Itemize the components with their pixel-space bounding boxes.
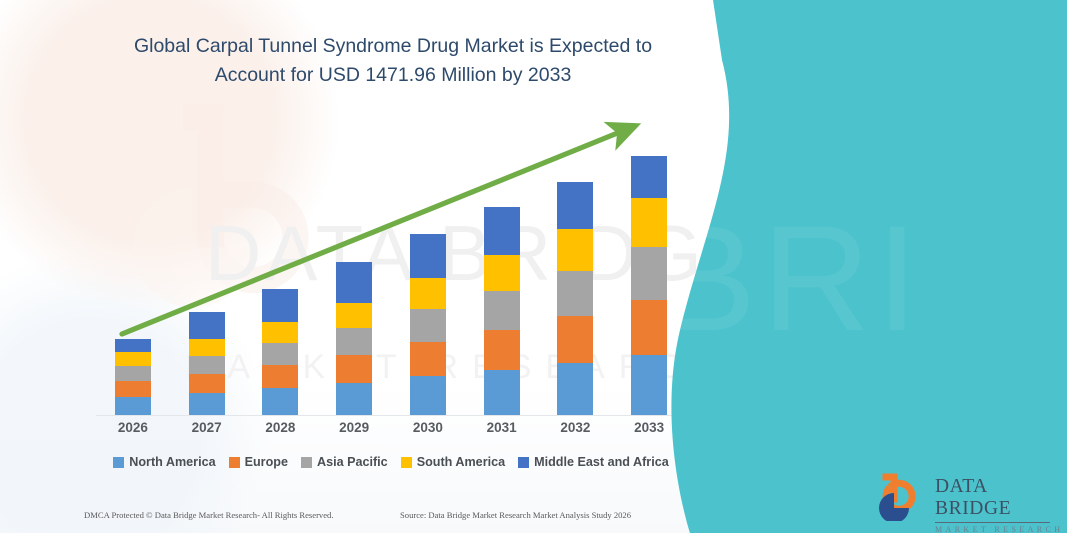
bar-segment [262,365,298,388]
bar-segment [336,328,372,355]
bar-segment [557,182,593,229]
bar-segment [115,381,151,397]
bar-segment [484,291,520,330]
bar-column [174,120,240,415]
bar-segment [262,289,298,322]
stacked-bar [115,339,151,415]
legend-swatch [401,457,412,468]
bar-column [469,120,535,415]
infographic-slide: DATA BRIDGE MARKET RESEARCH Global Carpa… [0,0,1067,533]
bar-column [100,120,166,415]
logo-wordmark-sub: MARKET RESEARCH [935,525,1067,533]
bar-segment [557,316,593,363]
legend-item[interactable]: North America [113,455,215,469]
x-axis-label: 2026 [100,420,166,435]
teal-panel: BRI 2026 2033 Global Carpal Tunnel Syndr… [650,0,1067,533]
x-axis-label: 2031 [469,420,535,435]
stacked-bar [262,289,298,415]
bar-segment [115,397,151,415]
bar-segment [410,342,446,376]
bar-segment [484,207,520,255]
bar-segment [484,330,520,370]
logo-divider [935,522,1050,523]
bar-segment [336,383,372,415]
x-axis-label: 2029 [321,420,387,435]
chart-legend: North AmericaEuropeAsia PacificSouth Ame… [96,455,686,469]
teal-panel-shape: BRI [650,0,1067,533]
x-axis-labels: 20262027202820292030203120322033 [96,420,686,435]
legend-label: South America [417,455,505,469]
x-axis-label: 2028 [247,420,313,435]
page-title: Global Carpal Tunnel Syndrome Drug Marke… [105,32,681,90]
bar-segment [262,388,298,415]
bar-segment [557,271,593,316]
stacked-bar-chart [96,120,686,416]
stacked-bar [484,207,520,415]
bar-segment [336,355,372,383]
x-axis-label: 2032 [542,420,608,435]
stacked-bar [336,262,372,415]
stacked-bar [410,234,446,415]
x-axis-line [96,415,686,416]
bar-segment [115,352,151,366]
bar-segment [410,309,446,342]
legend-item[interactable]: Middle East and Africa [518,455,669,469]
bar-column [542,120,608,415]
bar-segment [189,356,225,374]
logo-wordmark-main: DATA BRIDGE [935,476,1067,520]
legend-swatch [301,457,312,468]
chart-bars [96,120,686,415]
footer: DMCA Protected © Data Bridge Market Rese… [0,506,700,528]
bar-segment [115,339,151,352]
bar-segment [557,363,593,415]
bar-column [395,120,461,415]
bar-segment [262,343,298,365]
legend-item[interactable]: South America [401,455,505,469]
footer-copyright: DMCA Protected © Data Bridge Market Rese… [84,510,334,520]
bar-column [247,120,313,415]
x-axis-label: 2030 [395,420,461,435]
bar-segment [410,278,446,309]
bar-segment [189,393,225,415]
bar-segment [410,376,446,415]
legend-label: Middle East and Africa [534,455,669,469]
bar-segment [189,312,225,339]
x-axis-label: 2027 [174,420,240,435]
bar-segment [189,374,225,393]
footer-source: Source: Data Bridge Market Research Mark… [400,510,631,520]
legend-swatch [518,457,529,468]
databridge-logo-icon [650,0,830,52]
bar-column [321,120,387,415]
logo-wordmark: DATA BRIDGE MARKET RESEARCH [935,476,1067,533]
legend-item[interactable]: Europe [229,455,288,469]
legend-label: North America [129,455,215,469]
bar-segment [484,370,520,415]
bar-segment [336,262,372,303]
legend-swatch [113,457,124,468]
legend-swatch [229,457,240,468]
bar-segment [557,229,593,271]
stacked-bar [557,182,593,415]
svg-text:BRI: BRI [656,194,924,362]
legend-label: Asia Pacific [317,455,388,469]
stacked-bar [189,312,225,415]
legend-item[interactable]: Asia Pacific [301,455,388,469]
bar-segment [189,339,225,356]
bar-segment [262,322,298,343]
bar-segment [336,303,372,328]
logo-mark-icon [876,473,932,521]
bar-segment [115,366,151,381]
bar-segment [410,234,446,278]
bar-segment [484,255,520,291]
legend-label: Europe [245,455,288,469]
